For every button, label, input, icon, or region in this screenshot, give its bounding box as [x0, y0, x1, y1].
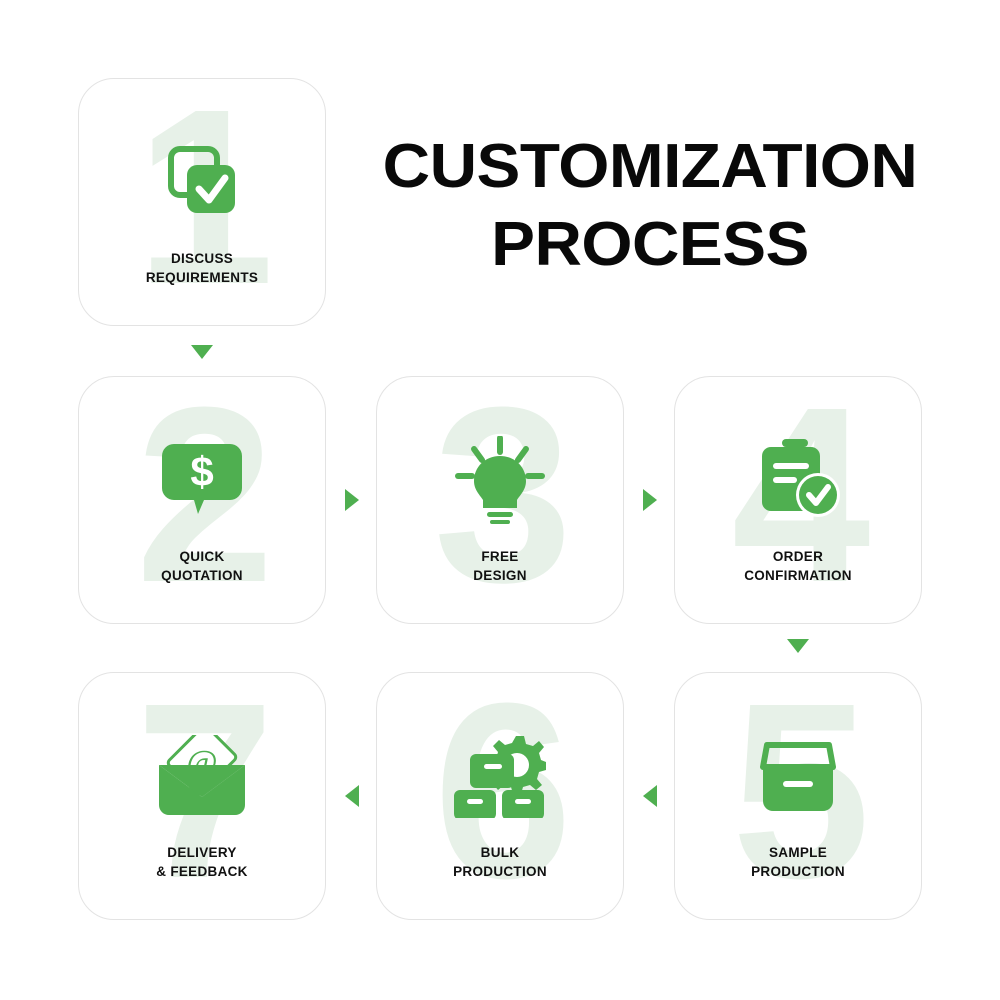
step-label-4: ORDER CONFIRMATION [683, 547, 913, 585]
svg-text:$: $ [190, 448, 213, 495]
page-title: CUSTOMIZATION PROCESS [334, 128, 966, 284]
step-label-1: DISCUSS REQUIREMENTS [87, 249, 317, 287]
infographic-canvas: CUSTOMIZATION PROCESS 1 DISCUSS REQUIREM… [0, 0, 1000, 1000]
step-card-1[interactable]: 1 DISCUSS REQUIREMENTS [78, 78, 326, 326]
step-label-3: FREE DESIGN [385, 547, 615, 585]
step-card-6[interactable]: 6 BULK PRODUCTION [376, 672, 624, 920]
open-box-icon [675, 721, 921, 831]
step-label-2: QUICK QUOTATION [87, 547, 317, 585]
step-label-7: DELIVERY & FEEDBACK [87, 843, 317, 881]
arrow-step6-to-step7 [345, 785, 359, 807]
lightbulb-idea-icon [377, 425, 623, 535]
step-card-7[interactable]: 7 @ DELIVERY & FEEDBACK [78, 672, 326, 920]
step-card-4[interactable]: 4 ORDER CONFIRMATION [674, 376, 922, 624]
arrow-step3-to-step4 [643, 489, 657, 511]
arrow-step2-to-step3 [345, 489, 359, 511]
step-card-2[interactable]: 2 $ QUICK QUOTATION [78, 376, 326, 624]
step-card-5[interactable]: 5 SAMPLE PRODUCTION [674, 672, 922, 920]
speech-bubble-dollar-icon: $ [79, 425, 325, 535]
arrow-step4-to-step5 [787, 639, 809, 653]
documents-check-icon [79, 127, 325, 237]
envelope-at-icon: @ [79, 721, 325, 831]
step-label-6: BULK PRODUCTION [385, 843, 615, 881]
step-label-5: SAMPLE PRODUCTION [683, 843, 913, 881]
arrow-step1-to-step2 [191, 345, 213, 359]
arrow-step5-to-step6 [643, 785, 657, 807]
step-card-3[interactable]: 3 FREE DESIGN [376, 376, 624, 624]
boxes-gear-icon [377, 721, 623, 831]
clipboard-check-icon [675, 425, 921, 535]
